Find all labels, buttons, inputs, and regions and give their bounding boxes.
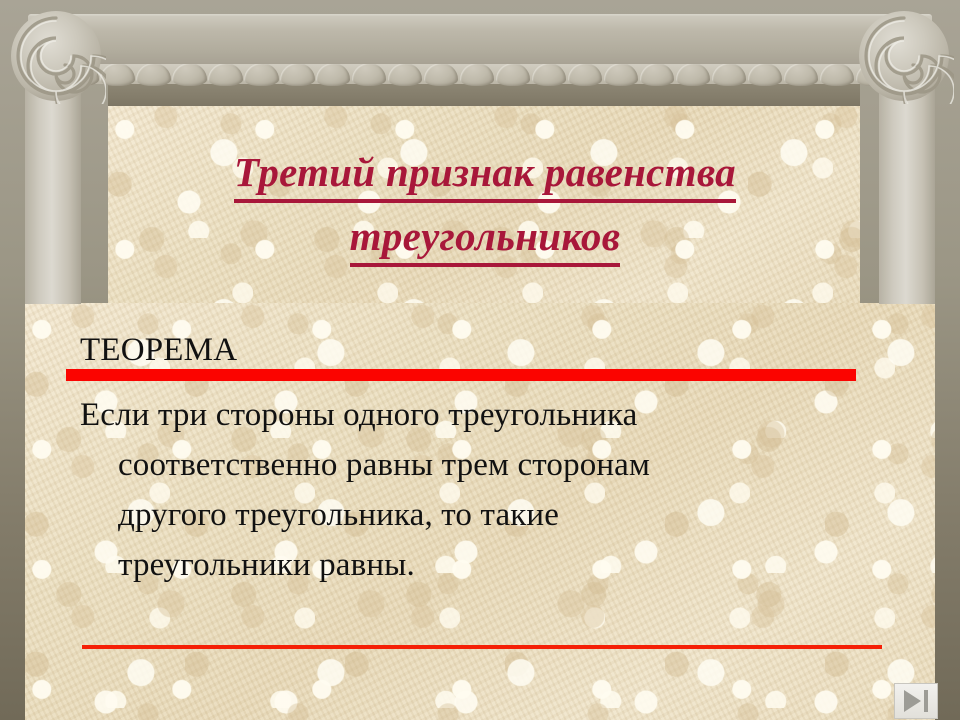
theorem-line-2: соответственно равны трем сторонам	[80, 440, 880, 490]
ovolo-ornament	[388, 63, 423, 86]
next-slide-button[interactable]	[894, 683, 938, 719]
ovolo-ornament	[496, 63, 531, 86]
ovolo-ornament	[244, 63, 279, 86]
ovolo-ornament	[316, 63, 351, 86]
ovolo-ornament	[604, 63, 639, 86]
ovolo-ornament	[712, 63, 747, 86]
ovolo-ornament	[640, 63, 675, 86]
abacus-band	[28, 16, 932, 64]
ovolo-ornament	[568, 63, 603, 86]
ovolo-ornament	[784, 63, 819, 86]
ovolo-ornament	[172, 63, 207, 86]
skip-next-icon	[904, 690, 921, 712]
theorem-underline-bar	[66, 369, 856, 381]
ovolo-ornament	[136, 63, 171, 86]
column-shaft-left	[25, 88, 81, 304]
ovolo-ornament	[208, 63, 243, 86]
theorem-statement: Если три стороны одного треугольника соо…	[80, 390, 880, 591]
ovolo-ornament	[280, 63, 315, 86]
ovolo-ornament	[460, 63, 495, 86]
column-shaft-right	[879, 88, 935, 304]
volute-spiral-right-icon	[854, 8, 954, 104]
ovolo-ornament	[820, 63, 855, 86]
frieze-band	[108, 84, 860, 106]
theorem-line-4: треугольники равны.	[80, 540, 880, 590]
bottom-divider-rule	[82, 645, 882, 649]
volute-spiral-left-icon	[6, 8, 106, 104]
theorem-label: ТЕОРЕМА	[80, 333, 237, 368]
theorem-line-1: Если три стороны одного треугольника	[80, 390, 880, 440]
slide-title: Третий признак равенства треугольников	[120, 146, 850, 267]
slide-title-line-1: Третий признак равенства	[234, 146, 736, 203]
theorem-line-3: другого треугольника, то такие	[80, 490, 880, 540]
presentation-slide: Третий признак равенства треугольников Т…	[0, 0, 960, 720]
egg-and-dart-row	[64, 63, 896, 87]
ovolo-ornament	[352, 63, 387, 86]
ovolo-ornament	[532, 63, 567, 86]
ionic-capital-ornament	[0, 0, 960, 110]
slide-title-line-2: треугольников	[350, 210, 621, 267]
ovolo-ornament	[676, 63, 711, 86]
skip-next-bar-icon	[924, 690, 928, 712]
ovolo-ornament	[424, 63, 459, 86]
ovolo-ornament	[748, 63, 783, 86]
